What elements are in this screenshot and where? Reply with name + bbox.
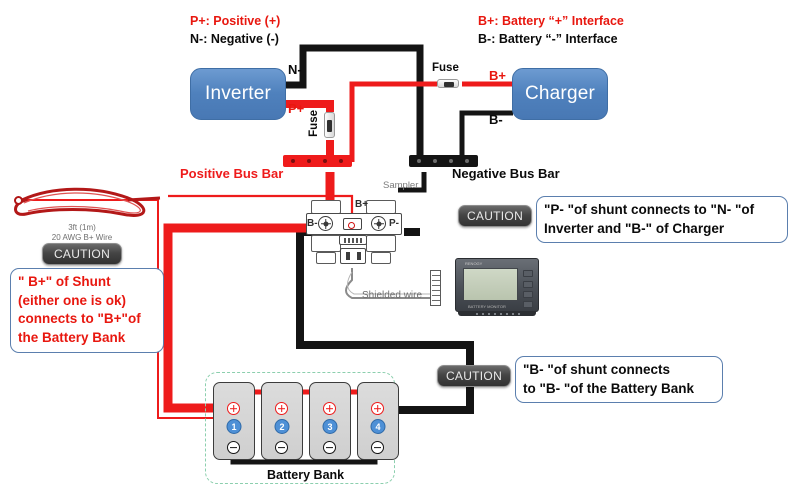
bus-terminal [417, 159, 421, 163]
top-fuse-body [437, 79, 459, 88]
wiring-diagram-canvas: P+: Positive (+) N-: Negative (-) B+: Ba… [0, 0, 799, 494]
caution-bottom-right-line2: to "B- "of the Battery Bank [523, 380, 715, 399]
charger-positive-label: B+ [489, 68, 506, 83]
bus-terminal [465, 159, 469, 163]
shunt-stud-right-bottom [366, 235, 396, 252]
inverter-fuse-body [324, 112, 335, 138]
legend-battery-neg-line: B-: Battery “-” Interface [478, 32, 618, 46]
negative-bus-bar-label: Negative Bus Bar [452, 166, 560, 181]
caution-left-line1: " B+" of Shunt [18, 273, 156, 292]
wire-ring-terminal [14, 196, 23, 205]
bus-terminal [449, 159, 453, 163]
battery-1-negative-terminal[interactable] [227, 441, 240, 454]
shunt-b-plus-label: B+ [355, 199, 368, 210]
caution-badge-left: CAUTION [42, 243, 122, 265]
battery-2-number: 2 [275, 419, 290, 434]
sampler-label: Sampler [383, 180, 418, 191]
caution-callout-left: " B+" of Shunt (either one is ok) connec… [10, 268, 164, 353]
shunt-sampler-connector[interactable] [339, 235, 367, 245]
bus-terminal [433, 159, 437, 163]
monitor-lcd-screen [463, 268, 518, 301]
battery-bank-title: Battery Bank [267, 468, 344, 482]
spool-spec-label: 20 AWG B+ Wire [22, 233, 142, 242]
inverter-fuse-label: Fuse [308, 110, 320, 137]
monitor-button-up[interactable] [523, 281, 533, 288]
monitor-brand-mark: RENOGY [465, 261, 482, 266]
battery-3-number: 3 [323, 419, 338, 434]
positive-bus-bar-label: Positive Bus Bar [180, 166, 283, 181]
battery-1-positive-terminal[interactable] [227, 402, 240, 415]
shunt-p-minus-label: P- [389, 218, 399, 229]
shunt-stud-right-top [366, 200, 396, 214]
shunt-terminal-p-minus[interactable] [371, 216, 386, 231]
caution-left-line3: connects to "B+"of [18, 310, 156, 329]
bus-terminal [323, 159, 327, 163]
bus-terminal [307, 159, 311, 163]
charger-negative-label: B- [489, 112, 503, 127]
battery-2-positive-terminal[interactable] [275, 402, 288, 415]
top-fuse-label: Fuse [432, 62, 459, 74]
spool-length-label: 3ft (1m) [22, 223, 142, 232]
shunt-stud-left-bottom [311, 235, 341, 252]
caution-top-right-line1: "P- "of shunt connects to "N- "of [544, 201, 780, 220]
caution-left-line2: (either one is ok) [18, 292, 156, 311]
shunt-lug-left [316, 252, 336, 264]
caution-badge-top-right: CAUTION [458, 205, 532, 227]
battery-4-positive-terminal[interactable] [371, 402, 384, 415]
battery-3-positive-terminal[interactable] [323, 402, 336, 415]
inverter-positive-label: P+ [288, 101, 304, 116]
monitor-button-enter[interactable] [523, 301, 533, 308]
caution-callout-bottom-right: "B- "of shunt connects to "B- "of the Ba… [515, 356, 723, 403]
monitor-sub-mark: BATTERY MONITOR [468, 304, 506, 309]
caution-left-line4: the Battery Bank [18, 329, 156, 348]
monitor-button-1[interactable] [523, 270, 533, 277]
legend-positive-line: P+: Positive (+) [190, 14, 280, 28]
battery-4-negative-terminal[interactable] [371, 441, 384, 454]
battery-monitor-display[interactable]: RENOGY BATTERY MONITOR [455, 258, 539, 312]
battery-1-number: 1 [227, 419, 242, 434]
shunt-lug-right [371, 252, 391, 264]
shielded-wire-label: Shielded wire [362, 290, 422, 301]
shielded-wire-connector [430, 270, 441, 306]
caution-callout-top-right: "P- "of shunt connects to "N- "of Invert… [536, 196, 788, 243]
battery-4-number: 4 [371, 419, 386, 434]
monitor-base [458, 311, 536, 316]
shunt-stud-left-top [311, 200, 341, 214]
shunt-terminal-b-plus[interactable] [343, 218, 362, 230]
shunt-b-minus-label: B- [307, 218, 318, 229]
inverter-negative-label: N- [288, 62, 302, 77]
battery-2-negative-terminal[interactable] [275, 441, 288, 454]
monitor-button-down[interactable] [523, 291, 533, 298]
caution-badge-bottom-right: CAUTION [437, 365, 511, 387]
inverter-box[interactable]: Inverter [190, 68, 286, 120]
bus-terminal [291, 159, 295, 163]
battery-3-negative-terminal[interactable] [323, 441, 336, 454]
caution-top-right-line2: Inverter and "B-" of Charger [544, 220, 780, 239]
charger-box[interactable]: Charger [512, 68, 608, 120]
shunt-terminal-b-minus[interactable] [318, 216, 333, 231]
positive-bus-bar[interactable] [283, 155, 352, 167]
shunt-sampler-plug [340, 248, 366, 264]
legend-negative-line: N-: Negative (-) [190, 32, 279, 46]
bus-terminal [339, 159, 343, 163]
caution-bottom-right-line1: "B- "of shunt connects [523, 361, 715, 380]
legend-battery-pos-line: B+: Battery “+” Interface [478, 14, 624, 28]
